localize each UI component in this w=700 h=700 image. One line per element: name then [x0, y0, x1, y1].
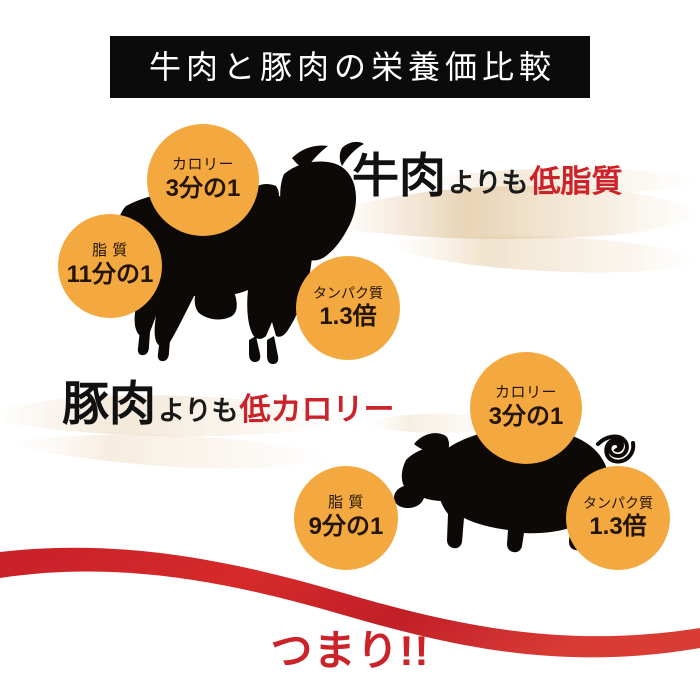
bubble-beef-fat-value: 11分の1 — [67, 261, 154, 289]
bubble-pork-fat-label: 脂 質 — [328, 495, 364, 512]
headline-beef-main: 牛肉 — [352, 152, 446, 199]
bubble-pork-calorie-value: 3分の1 — [489, 403, 564, 431]
headline-beef: 牛肉 よりも 低脂質 — [352, 152, 622, 199]
headline-beef-accent: 低脂質 — [529, 166, 622, 197]
bubble-beef-calorie: カロリー 3分の1 — [147, 124, 259, 236]
bubble-pork-fat-value: 9分の1 — [309, 513, 384, 541]
bubble-beef-protein: タンパク質 1.3倍 — [296, 256, 400, 360]
bubble-pork-calorie-label: カロリー — [495, 385, 557, 402]
bubble-pork-protein-label: タンパク質 — [583, 496, 653, 511]
headline-beef-middle: よりも — [448, 170, 528, 197]
bubble-beef-calorie-value: 3分の1 — [166, 175, 241, 203]
bubble-beef-protein-label: タンパク質 — [313, 286, 383, 301]
page-title: 牛肉と豚肉の栄養価比較 — [144, 51, 556, 83]
bubble-beef-calorie-label: カロリー — [172, 157, 234, 174]
conclusion-text: つまり!! — [0, 630, 700, 672]
headline-pork-main: 豚肉 — [62, 380, 156, 427]
bubble-pork-protein-value: 1.3倍 — [589, 513, 646, 541]
headline-pork: 豚肉 よりも 低カロリー — [62, 380, 394, 427]
headline-pork-middle: よりも — [158, 398, 238, 425]
bubble-pork-fat: 脂 質 9分の1 — [294, 466, 398, 570]
bubble-beef-fat-label: 脂 質 — [92, 243, 128, 260]
infographic-root: 牛肉と豚肉の栄養価比較 — [0, 0, 700, 700]
bubble-pork-protein: タンパク質 1.3倍 — [566, 466, 670, 570]
bubble-beef-fat: 脂 質 11分の1 — [58, 214, 162, 318]
bubble-pork-calorie: カロリー 3分の1 — [470, 352, 582, 464]
headline-pork-accent: 低カロリー — [239, 394, 394, 425]
title-band: 牛肉と豚肉の栄養価比較 — [110, 36, 590, 98]
bubble-beef-protein-value: 1.3倍 — [319, 303, 376, 331]
